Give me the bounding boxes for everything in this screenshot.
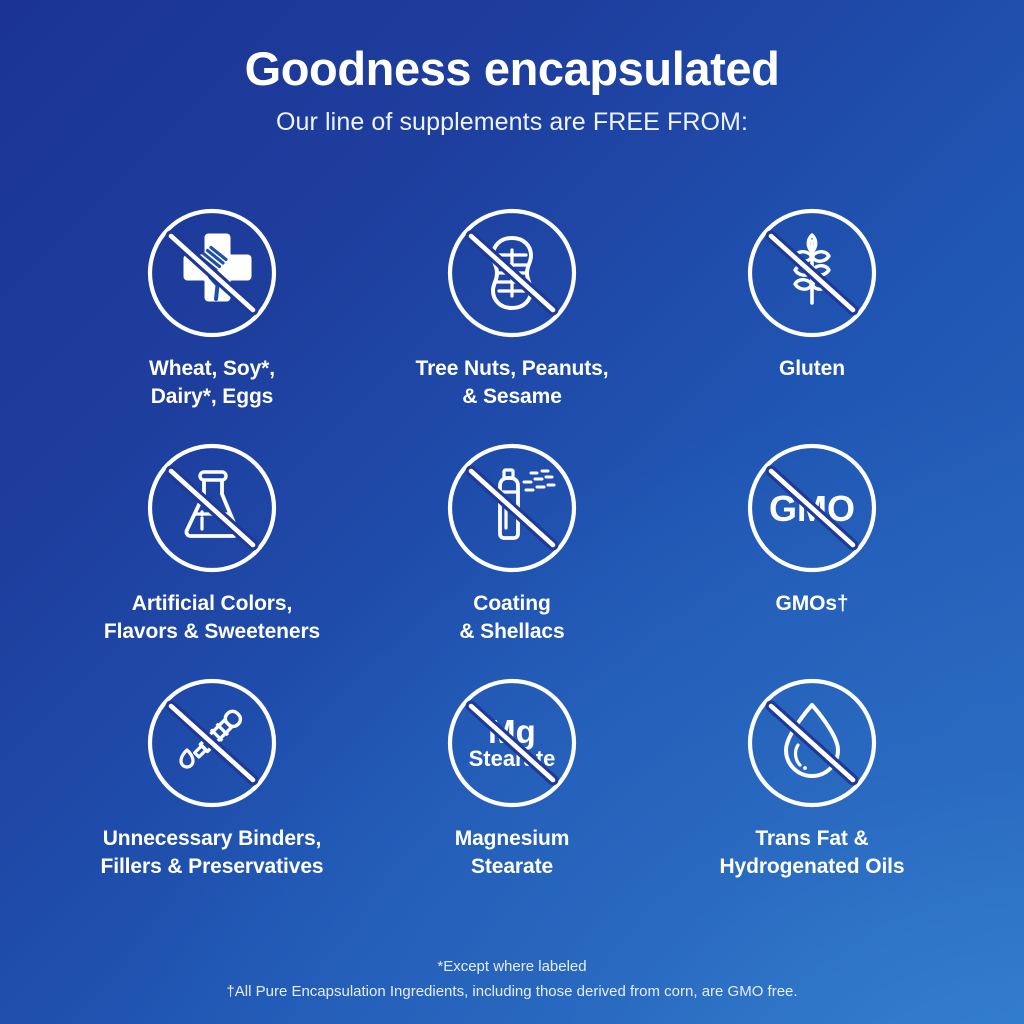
free-from-item-label: Tree Nuts, Peanuts, & Sesame	[416, 355, 609, 411]
footnote-except-where-labeled: *Except where labeled	[0, 955, 1024, 979]
poster-header: Goodness encapsulated Our line of supple…	[0, 44, 1024, 137]
free-from-item-magnesium-stearate: Mg Stearate Magnesium Stearate	[362, 677, 662, 912]
free-from-item-coating: Coating & Shellacs	[362, 442, 662, 677]
free-from-item-label: Artificial Colors, Flavors & Sweeteners	[104, 590, 320, 646]
no-dropper-pipette-icon	[146, 677, 278, 809]
free-from-item-binders: Unnecessary Binders, Fillers & Preservat…	[62, 677, 362, 912]
page-title: Goodness encapsulated	[0, 44, 1024, 94]
free-from-item-label: Magnesium Stearate	[455, 825, 570, 881]
free-from-item-nuts: Tree Nuts, Peanuts, & Sesame	[362, 207, 662, 442]
free-from-poster: Goodness encapsulated Our line of supple…	[0, 0, 1024, 1024]
free-from-grid: Wheat, Soy*, Dairy*, Eggs	[62, 207, 962, 912]
free-from-item-label: GMOs†	[775, 590, 848, 618]
free-from-item-gmo: GMO GMOs†	[662, 442, 962, 677]
free-from-item-label: Gluten	[779, 355, 845, 383]
free-from-item-label: Unnecessary Binders, Fillers & Preservat…	[100, 825, 323, 881]
free-from-item-allergens: Wheat, Soy*, Dairy*, Eggs	[62, 207, 362, 442]
no-erlenmeyer-flask-icon	[146, 442, 278, 574]
free-from-item-label: Wheat, Soy*, Dairy*, Eggs	[149, 355, 275, 411]
free-from-item-label: Trans Fat & Hydrogenated Oils	[719, 825, 904, 881]
footnotes: *Except where labeled †All Pure Encapsul…	[0, 955, 1024, 1004]
no-peanut-icon	[446, 207, 578, 339]
footnote-gmo-free: †All Pure Encapsulation Ingredients, inc…	[0, 980, 1024, 1004]
no-oil-droplet-icon	[746, 677, 878, 809]
no-wheat-stalk-icon	[746, 207, 878, 339]
page-subtitle: Our line of supplements are FREE FROM:	[0, 108, 1024, 137]
free-from-item-artificial: Artificial Colors, Flavors & Sweeteners	[62, 442, 362, 677]
no-allergen-cross-fork-icon	[146, 207, 278, 339]
no-spray-can-icon	[446, 442, 578, 574]
no-magnesium-stearate-icon: Mg Stearate	[446, 677, 578, 809]
free-from-item-trans-fat: Trans Fat & Hydrogenated Oils	[662, 677, 962, 912]
free-from-item-gluten: Gluten	[662, 207, 962, 442]
free-from-item-label: Coating & Shellacs	[459, 590, 564, 646]
no-gmo-icon: GMO	[746, 442, 878, 574]
